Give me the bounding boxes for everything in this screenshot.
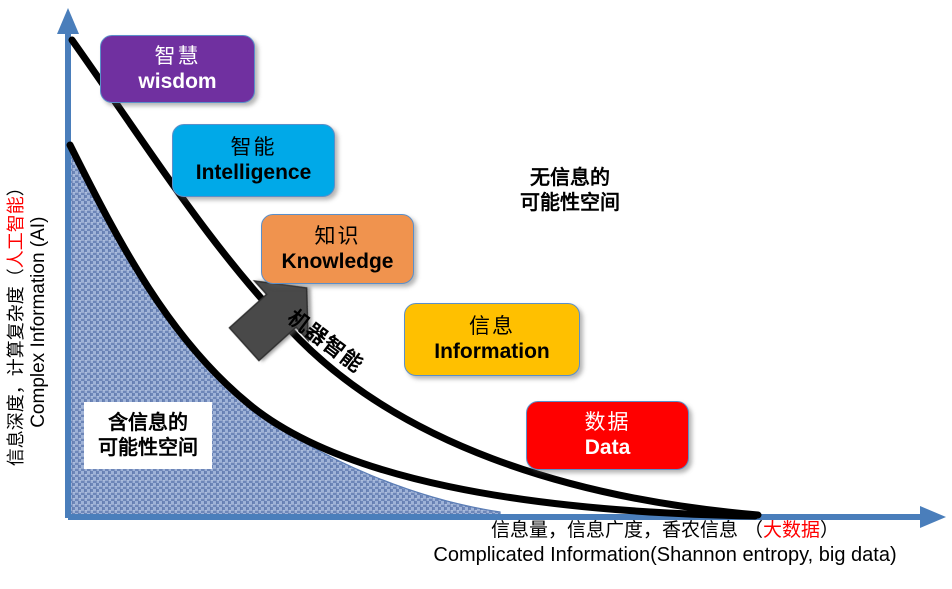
y-axis-cn-tail: ） <box>6 178 27 196</box>
y-axis-cn-head: 信息深度，计算复杂度（ <box>6 268 27 466</box>
concept-box-wisdom[interactable]: 智慧 wisdom <box>100 35 255 103</box>
x-axis-cn-tail: ） <box>820 519 839 541</box>
y-axis-title-cn: 信息深度，计算复杂度（人工智能） <box>6 112 28 532</box>
concept-label-en: Information <box>434 340 550 364</box>
x-axis-cn-head: 信息量，信息广度，香农信息 （ <box>491 519 763 541</box>
concept-box-information[interactable]: 信息 Information <box>404 303 580 376</box>
x-axis-title-cn: 信息量，信息广度，香农信息 （大数据） <box>385 519 945 543</box>
concept-label-en: Intelligence <box>196 161 312 185</box>
concept-label-cn: 智慧 <box>155 45 201 69</box>
concept-label-en: wisdom <box>138 70 216 94</box>
diagram-canvas: 智慧 wisdom 智能 Intelligence 知识 Knowledge 信… <box>0 0 952 589</box>
x-axis-cn-highlight: 大数据 <box>763 519 820 541</box>
annotation-line-2: 可能性空间 <box>98 435 198 460</box>
annotation-no-information-space: 无信息的 可能性空间 <box>520 165 620 215</box>
annotation-with-information-space: 含信息的 可能性空间 <box>84 402 212 469</box>
concept-label-cn: 信息 <box>469 315 515 339</box>
concept-label-cn: 智能 <box>231 136 277 160</box>
concept-label-en: Data <box>585 436 631 460</box>
annotation-line-1: 含信息的 <box>98 410 198 435</box>
x-axis-title: 信息量，信息广度，香农信息 （大数据） Complicated Informat… <box>385 519 945 568</box>
annotation-line-2: 可能性空间 <box>520 190 620 215</box>
concept-box-knowledge[interactable]: 知识 Knowledge <box>261 214 414 284</box>
y-axis-title: 信息深度，计算复杂度（人工智能） Complex Information (AI… <box>6 112 50 532</box>
concept-box-intelligence[interactable]: 智能 Intelligence <box>172 124 335 197</box>
y-axis-title-en: Complex Information (AI) <box>27 112 50 532</box>
concept-label-en: Knowledge <box>281 250 393 274</box>
annotation-line-1: 无信息的 <box>520 165 620 190</box>
concept-box-data[interactable]: 数据 Data <box>526 401 689 470</box>
x-axis-title-en: Complicated Information(Shannon entropy,… <box>385 543 945 568</box>
concept-label-cn: 数据 <box>585 411 631 435</box>
concept-label-cn: 知识 <box>315 225 361 249</box>
y-axis-cn-highlight: 人工智能 <box>6 196 27 268</box>
